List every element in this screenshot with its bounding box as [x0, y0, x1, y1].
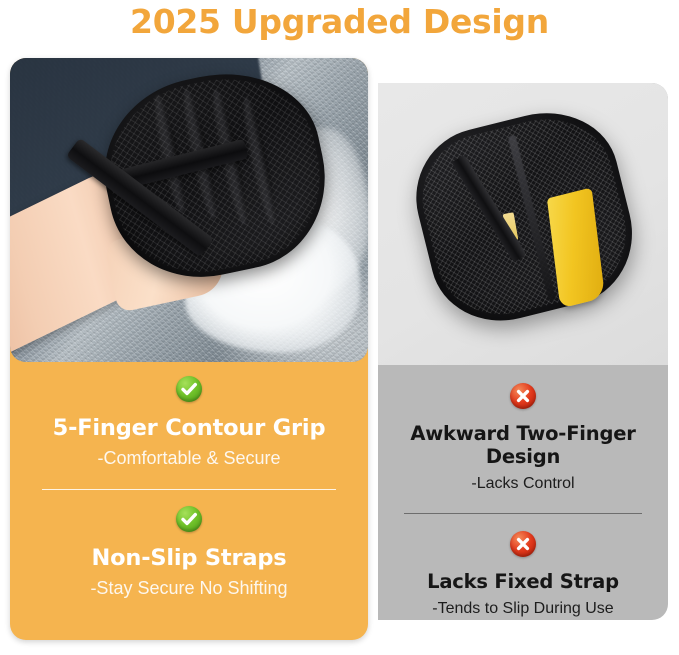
green-check-icon	[176, 506, 202, 532]
good-feature-item-2: Non-Slip Straps -Stay Secure No Shifting	[10, 490, 368, 599]
bad-feature-item-2: Lacks Fixed Strap -Tends to Slip During …	[378, 514, 668, 618]
good-feature-item-1: 5-Finger Contour Grip -Comfortable & Sec…	[10, 362, 368, 469]
bad-feature-title-2: Lacks Fixed Strap	[388, 570, 658, 593]
good-feature-list: 5-Finger Contour Grip -Comfortable & Sec…	[10, 362, 368, 599]
bad-feature-subtitle-2: -Tends to Slip During Use	[388, 600, 658, 618]
good-feature-subtitle-1: -Comfortable & Secure	[20, 448, 358, 469]
bad-feature-title-1: Awkward Two-Finger Design	[388, 422, 658, 468]
photo-two-finger-mitt	[401, 97, 647, 336]
good-product-photo	[10, 58, 368, 362]
green-check-icon	[176, 376, 202, 402]
red-cross-icon	[510, 383, 536, 409]
bad-feature-item-1: Awkward Two-Finger Design -Lacks Control	[378, 365, 668, 493]
good-product-card: 5-Finger Contour Grip -Comfortable & Sec…	[10, 58, 368, 640]
bad-product-card: Awkward Two-Finger Design -Lacks Control…	[378, 83, 668, 620]
good-feature-title-1: 5-Finger Contour Grip	[20, 415, 358, 441]
good-feature-subtitle-2: -Stay Secure No Shifting	[20, 578, 358, 599]
bad-feature-list: Awkward Two-Finger Design -Lacks Control…	[378, 365, 668, 618]
good-feature-title-2: Non-Slip Straps	[20, 545, 358, 571]
bad-product-photo	[378, 83, 668, 365]
red-cross-icon	[510, 531, 536, 557]
bad-feature-subtitle-1: -Lacks Control	[388, 475, 658, 493]
comparison-layout: 5-Finger Contour Grip -Comfortable & Sec…	[0, 0, 679, 655]
